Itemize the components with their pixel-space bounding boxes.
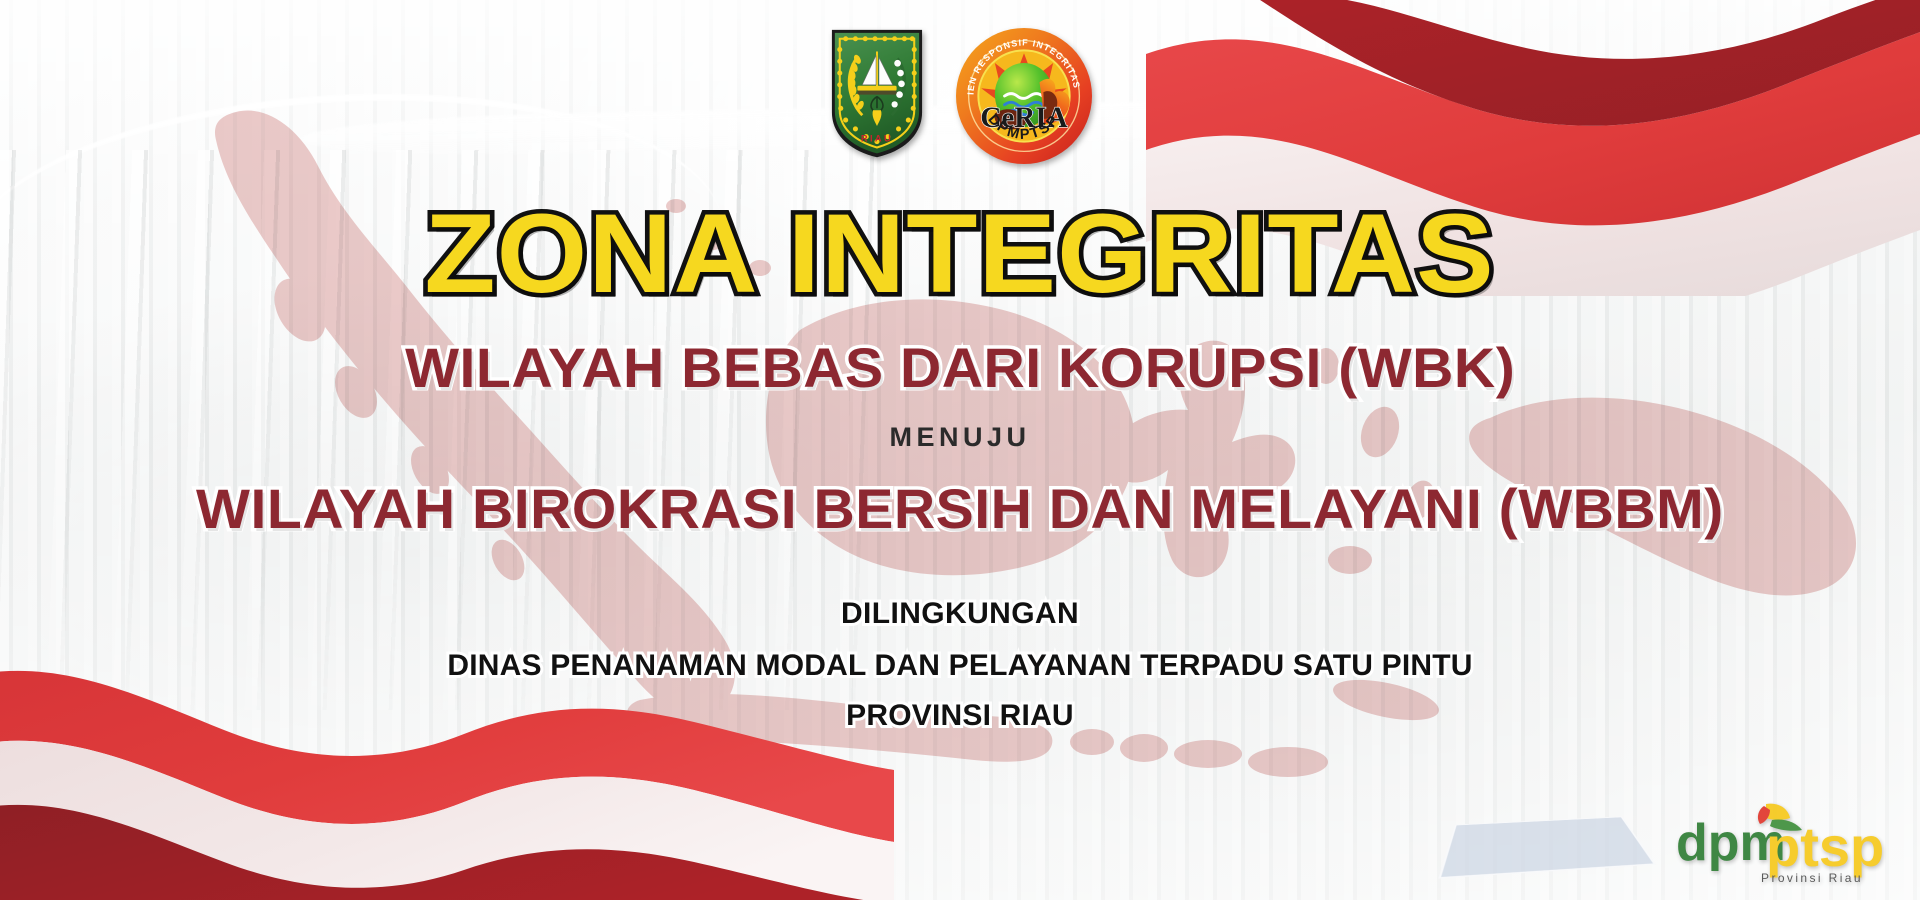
- page-title: ZONA INTEGRITAS: [425, 198, 1495, 310]
- dpmptsp-wordmark-icon: dpm ptsp Provinsi Riau: [1660, 794, 1896, 886]
- banner-text-content: ZONA INTEGRITAS WILAYAH BEBAS DARI KORUP…: [0, 0, 1920, 900]
- ptsp-text: ptsp: [1766, 815, 1884, 878]
- scope-label: DILINGKUNGAN: [841, 599, 1079, 629]
- organization-name: DINAS PENANAMAN MODAL DAN PELAYANAN TERP…: [447, 651, 1472, 681]
- wbbm-heading: WILAYAH BIROKRASI BERSIH DAN MELAYANI (W…: [196, 481, 1724, 537]
- connector-label: MENUJU: [889, 424, 1030, 451]
- wbk-heading: WILAYAH BEBAS DARI KORUPSI (WBK): [405, 340, 1515, 396]
- dpmptsp-tagline: Provinsi Riau: [1761, 871, 1863, 885]
- province-name: PROVINSI RIAU: [846, 701, 1074, 731]
- zona-integritas-banner: RIAU: [0, 0, 1920, 900]
